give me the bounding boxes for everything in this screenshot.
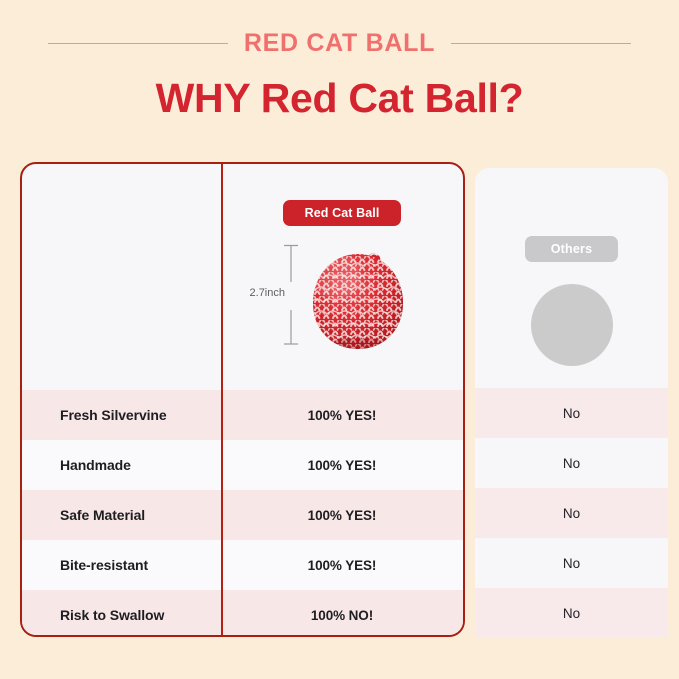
eyebrow-rule-right [451,43,631,44]
others-cell-4: No [475,588,668,637]
product-badge: Red Cat Ball [283,200,402,226]
card-header-area: Red Cat Ball 2.7inch [22,164,463,390]
others-cell-2: No [475,488,668,538]
product-image-area: 2.7inch [221,238,463,378]
table-row: Fresh Silvervine 100% YES! [22,390,463,440]
comparison-rows: Fresh Silvervine 100% YES! Handmade 100%… [22,390,463,637]
eyebrow-rule-left [48,43,228,44]
others-badge: Others [525,236,619,262]
feature-column-header-spacer [22,164,221,390]
dimension-indicator: 2.7inch [227,244,299,348]
comparison-card: Red Cat Ball 2.7inch [20,162,465,637]
product-image-wrap [299,238,423,358]
product-column-header: Red Cat Ball 2.7inch [221,164,463,390]
others-column: Others No No No No No [475,168,668,637]
others-value-rows: No No No No No [475,388,668,637]
others-cell-1: No [475,438,668,488]
product-badge-wrap: Red Cat Ball [221,200,463,226]
product-value-2: 100% YES! [221,508,463,523]
others-column-header: Others [475,168,668,388]
feature-label-1: Handmade [22,457,221,473]
feature-label-4: Risk to Swallow [22,607,221,623]
table-row: Safe Material 100% YES! [22,490,463,540]
table-row: Bite-resistant 100% YES! [22,540,463,590]
product-value-0: 100% YES! [221,408,463,423]
feature-label-3: Bite-resistant [22,557,221,573]
others-placeholder-circle-icon [531,284,613,366]
brand-eyebrow-row: RED CAT BALL [0,26,679,60]
brand-eyebrow-label: RED CAT BALL [244,31,435,56]
others-placeholder-wrap [475,284,668,366]
others-badge-wrap: Others [475,236,668,262]
product-value-4: 100% NO! [221,608,463,623]
feature-label-2: Safe Material [22,507,221,523]
page-title: WHY Red Cat Ball? [0,76,679,121]
feature-label-0: Fresh Silvervine [22,407,221,423]
red-crochet-ball-icon [305,248,411,352]
others-cell-3: No [475,538,668,588]
table-row: Risk to Swallow 100% NO! [22,590,463,637]
others-cell-0: No [475,388,668,438]
table-row: Handmade 100% YES! [22,440,463,490]
column-divider [221,164,223,635]
dimension-label: 2.7inch [227,288,285,299]
product-value-1: 100% YES! [221,458,463,473]
product-value-3: 100% YES! [221,558,463,573]
